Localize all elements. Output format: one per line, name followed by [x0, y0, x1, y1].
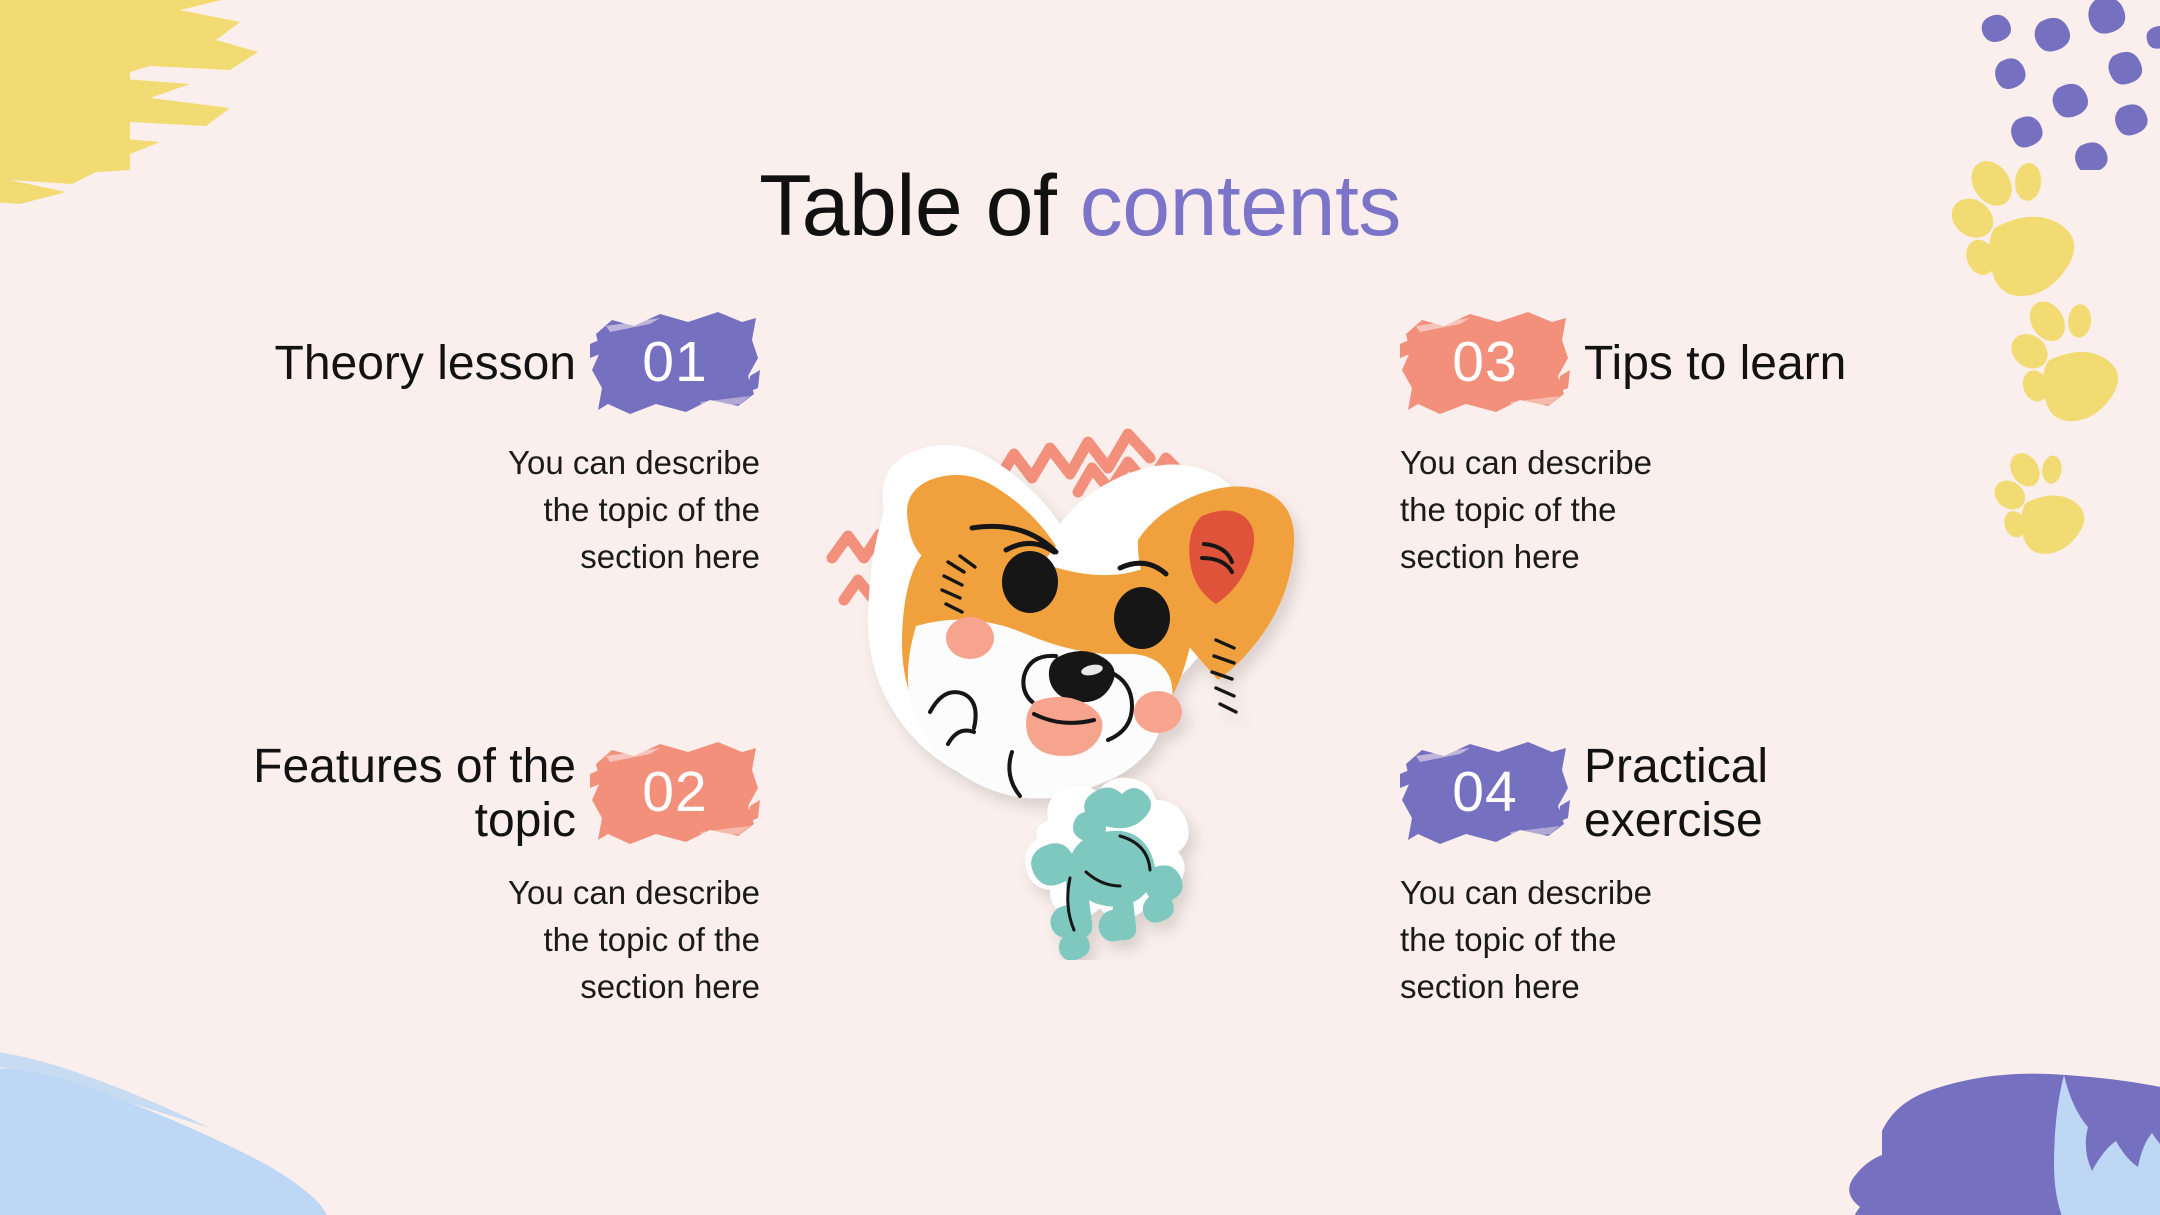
entry-header: 04 Practical exercise: [1400, 740, 1960, 848]
cheek-blush: [1134, 691, 1182, 733]
entry-number: 04: [1452, 764, 1517, 821]
slide-canvas: Table of contents Theory lesson 01 You c…: [0, 0, 2160, 1215]
entry-number: 02: [642, 764, 707, 821]
entry-description: You can describe the topic of the sectio…: [1400, 440, 1960, 581]
entry-description: You can describe the topic of the sectio…: [1400, 870, 1960, 1011]
number-badge-02: 02: [590, 740, 760, 848]
entry-header: 03 Tips to learn: [1400, 310, 1960, 418]
eye-left: [1002, 551, 1058, 613]
entry-number: 01: [642, 334, 707, 391]
entry-header: Theory lesson 01: [200, 310, 760, 418]
purple-dots-cluster-icon: [1930, 0, 2160, 170]
entry-header: Features of the topic 02: [200, 740, 760, 848]
corgi-head: [868, 445, 1294, 820]
toc-entry-03[interactable]: 03 Tips to learn You can describe the to…: [1400, 310, 1960, 581]
blue-brush-stroke-icon: [0, 1030, 370, 1215]
page-title: Table of contents: [0, 163, 2160, 249]
cheek-blush: [946, 617, 994, 659]
teal-poodle-sticker: [1025, 778, 1188, 960]
number-badge-04: 04: [1400, 740, 1570, 848]
number-badge-01: 01: [590, 310, 760, 418]
entry-title: Features of the topic: [200, 740, 576, 848]
toc-entry-04[interactable]: 04 Practical exercise You can describe t…: [1400, 740, 1960, 1011]
page-title-accent: contents: [1080, 158, 1401, 254]
toc-entry-02[interactable]: Features of the topic 02 You can describ…: [200, 740, 760, 1011]
eye-right: [1114, 587, 1170, 649]
page-title-plain: Table of: [759, 158, 1080, 254]
entry-description: You can describe the topic of the sectio…: [200, 440, 760, 581]
number-badge-03: 03: [1400, 310, 1570, 418]
entry-title: Tips to learn: [1584, 337, 1960, 391]
entry-number: 03: [1452, 334, 1517, 391]
entry-title: Theory lesson: [200, 337, 576, 391]
entry-description: You can describe the topic of the sectio…: [200, 870, 760, 1011]
purple-corner-shape-icon: [1820, 1035, 2160, 1215]
toc-entry-01[interactable]: Theory lesson 01 You can describe the to…: [200, 310, 760, 581]
entry-title: Practical exercise: [1584, 740, 1960, 848]
corgi-dog-sticker-illustration: [820, 300, 1360, 960]
